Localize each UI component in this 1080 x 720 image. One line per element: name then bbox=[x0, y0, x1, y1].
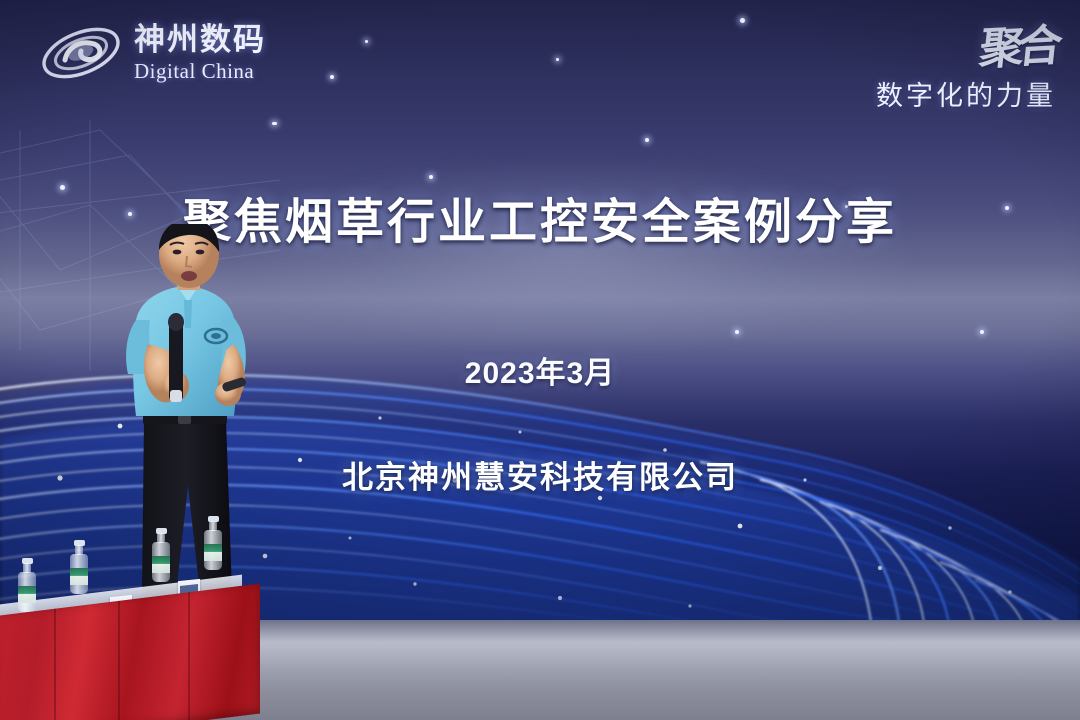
microphone bbox=[168, 313, 184, 402]
water-bottle bbox=[204, 530, 222, 570]
water-bottle bbox=[18, 572, 36, 612]
water-bottle bbox=[70, 554, 88, 594]
front-table bbox=[0, 556, 282, 720]
conference-photo: 神州数码 Digital China 聚合 数字化的力量 聚焦烟草行业工控安全案… bbox=[0, 0, 1080, 720]
water-bottle bbox=[152, 542, 170, 582]
